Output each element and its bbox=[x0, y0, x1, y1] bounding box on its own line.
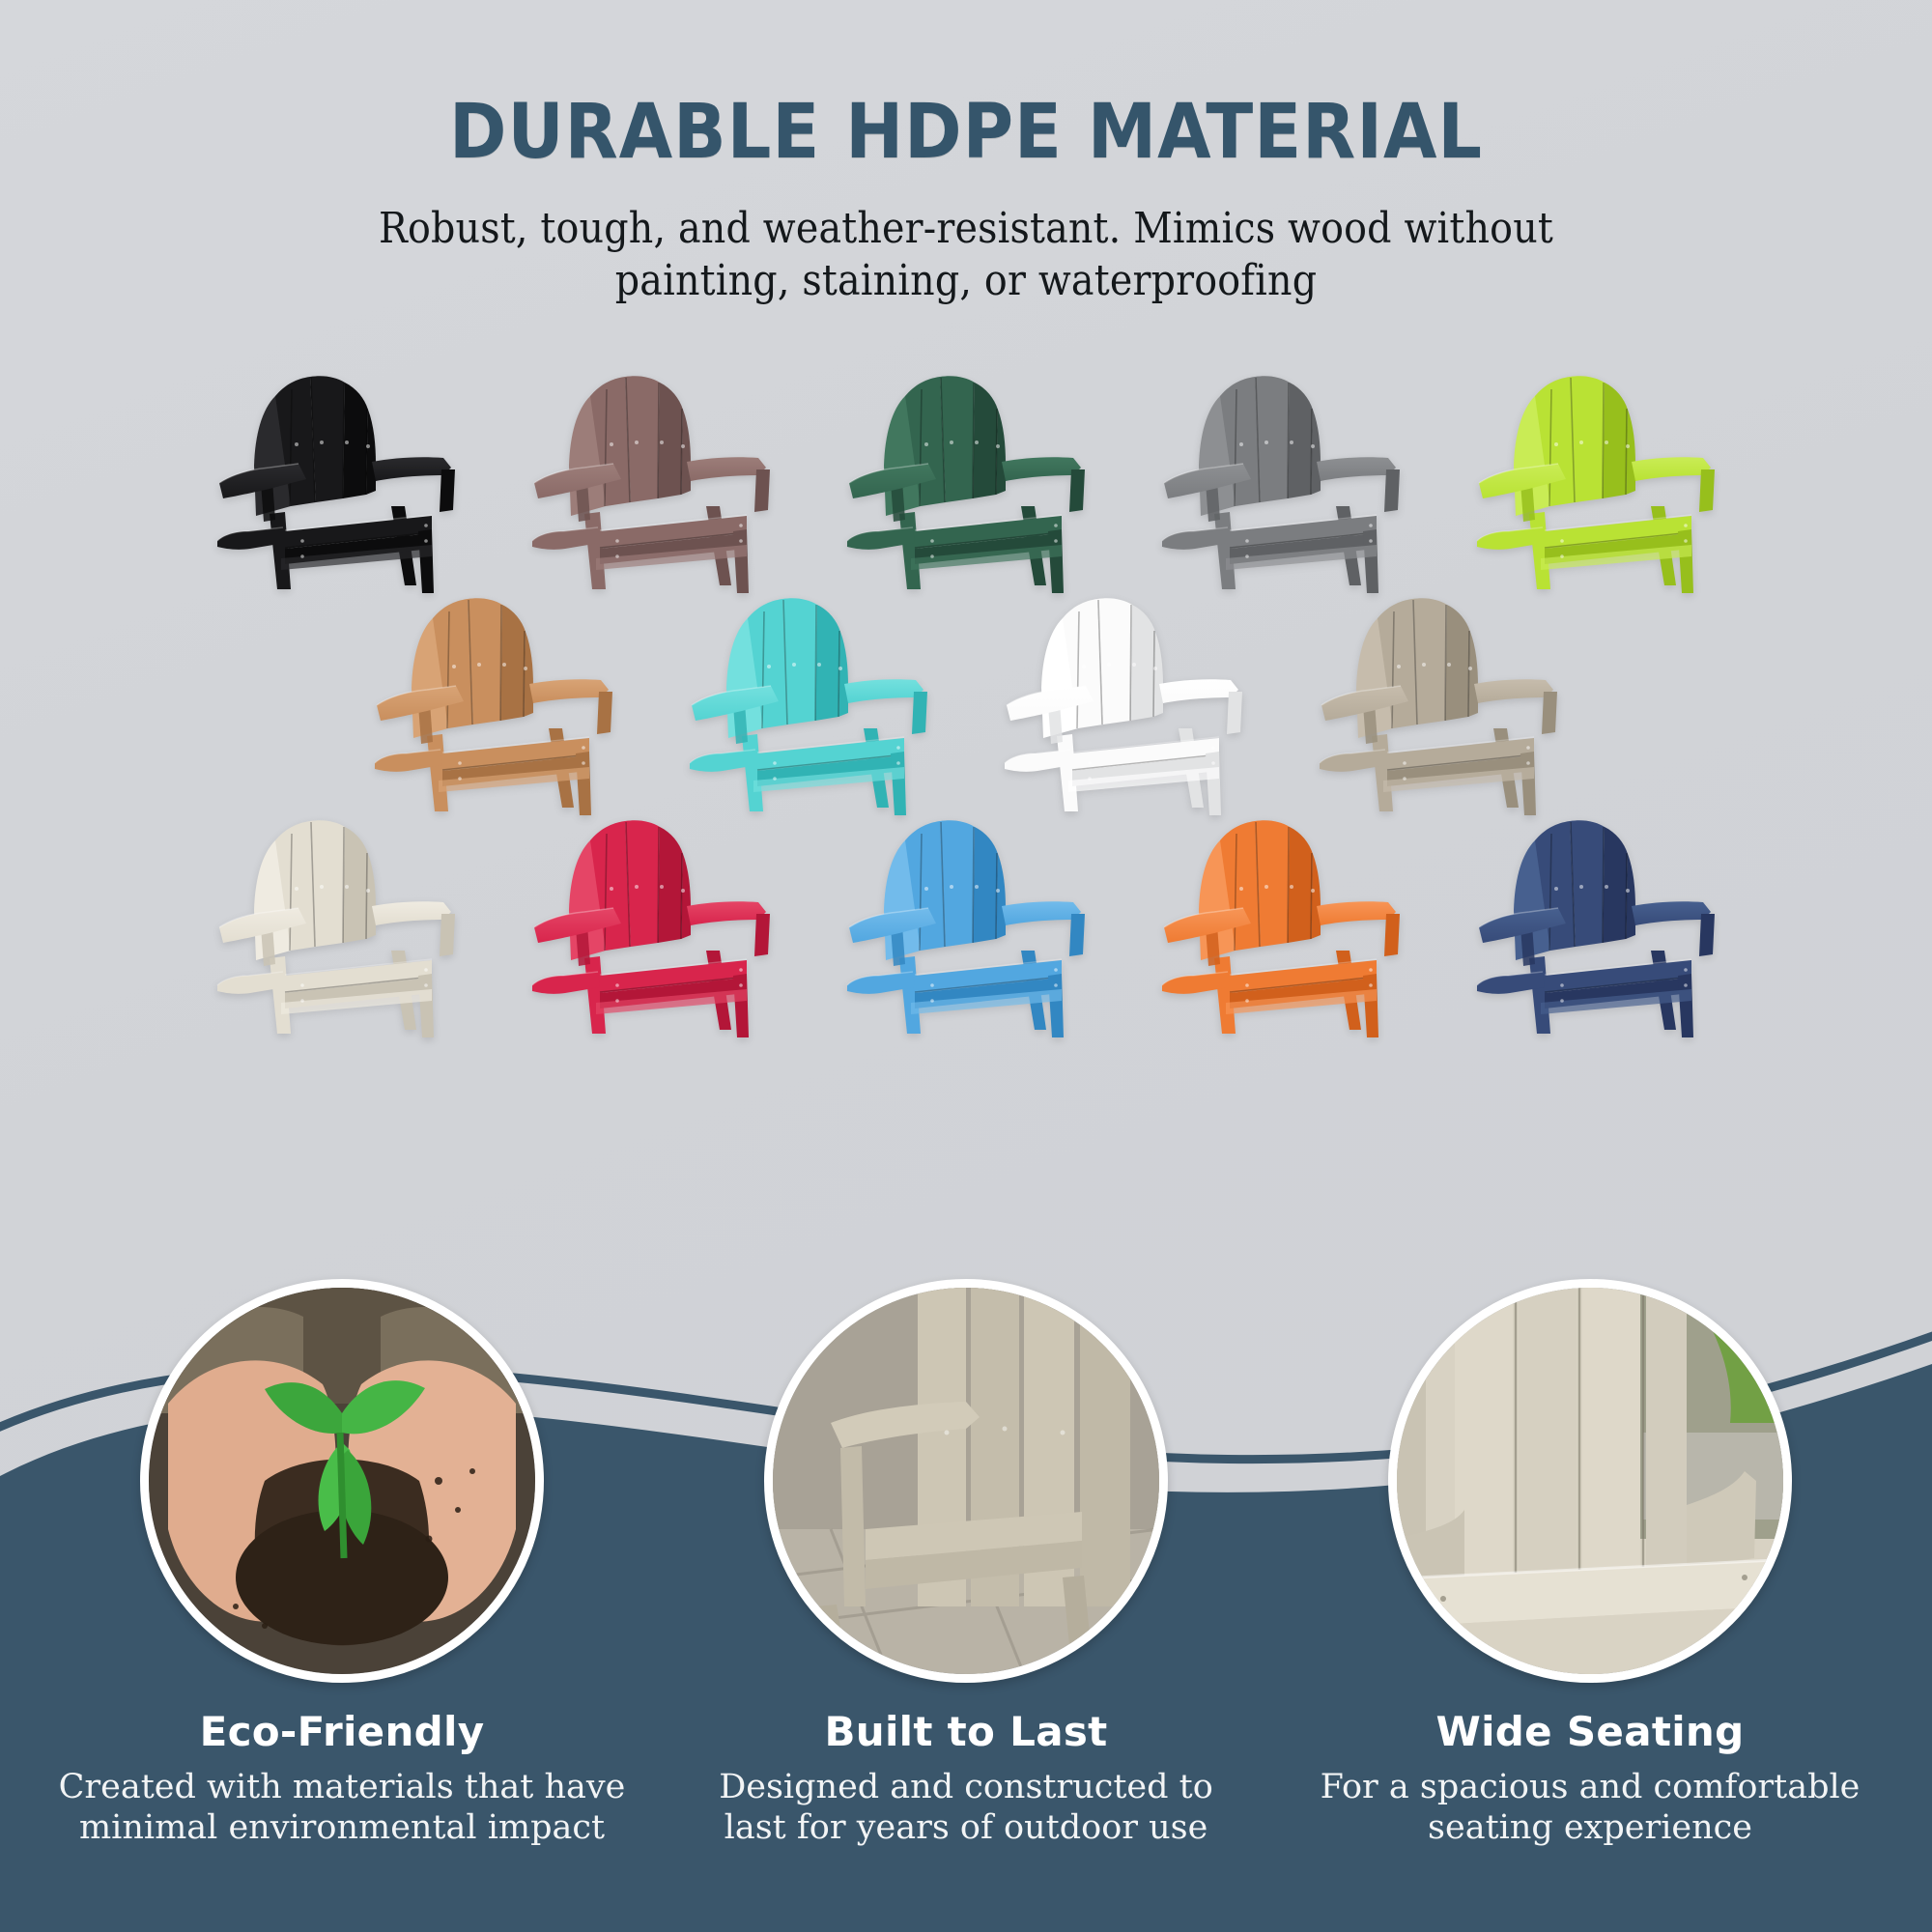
feature-image-eco-friendly bbox=[140, 1279, 544, 1683]
feature-list: Eco-Friendly Created with materials that… bbox=[0, 1198, 1932, 1932]
feature-description-built-to-last: Designed and constructed to last for yea… bbox=[676, 1767, 1256, 1849]
feature-desc-line-1: Created with materials that have bbox=[59, 1768, 626, 1806]
chair-swatch-taupe[interactable] bbox=[1304, 583, 1573, 823]
chair-row-2 bbox=[0, 583, 1932, 823]
page-subtitle: Robust, tough, and weather-resistant. Mi… bbox=[0, 176, 1932, 306]
patio-chair-photo-art bbox=[773, 1288, 1159, 1674]
chair-swatch-turquoise[interactable] bbox=[674, 583, 943, 823]
chair-graphic-navy bbox=[1462, 806, 1730, 1045]
chair-swatch-black[interactable] bbox=[202, 361, 470, 601]
feature-image-built-to-last bbox=[764, 1279, 1168, 1683]
chair-swatch-white[interactable] bbox=[989, 583, 1258, 823]
wide-seat-photo-art bbox=[1397, 1288, 1783, 1674]
feature-eco-friendly: Eco-Friendly Created with materials that… bbox=[52, 1279, 632, 1849]
feature-desc-line-1: For a spacious and comfortable bbox=[1321, 1768, 1861, 1806]
chair-graphic-light-blue bbox=[832, 806, 1100, 1045]
chair-row-1 bbox=[0, 361, 1932, 601]
chair-graphic-gray bbox=[1147, 361, 1415, 601]
chair-swatch-navy[interactable] bbox=[1462, 806, 1730, 1045]
feature-title-built-to-last: Built to Last bbox=[676, 1708, 1256, 1755]
chair-swatch-teak[interactable] bbox=[359, 583, 628, 823]
chair-graphic-white bbox=[989, 583, 1258, 823]
chair-swatch-orange[interactable] bbox=[1147, 806, 1415, 1045]
chair-swatch-gray[interactable] bbox=[1147, 361, 1415, 601]
feature-image-wide-seating bbox=[1388, 1279, 1792, 1683]
chair-swatch-light-blue[interactable] bbox=[832, 806, 1100, 1045]
chair-swatch-brown[interactable] bbox=[517, 361, 785, 601]
chair-graphic-orange bbox=[1147, 806, 1415, 1045]
chair-graphic-red bbox=[517, 806, 785, 1045]
chair-graphic-taupe bbox=[1304, 583, 1573, 823]
feature-desc-line-2: seating experience bbox=[1428, 1808, 1752, 1847]
header: DURABLE HDPE MATERIAL Robust, tough, and… bbox=[0, 0, 1932, 306]
feature-description-wide-seating: For a spacious and comfortable seating e… bbox=[1300, 1767, 1880, 1849]
chair-swatch-dark-green[interactable] bbox=[832, 361, 1100, 601]
seedling-photo-art bbox=[149, 1288, 535, 1674]
feature-wide-seating: Wide Seating For a spacious and comforta… bbox=[1300, 1279, 1880, 1849]
feature-desc-line-2: minimal environmental impact bbox=[79, 1808, 605, 1847]
chair-graphic-turquoise bbox=[674, 583, 943, 823]
page-title: DURABLE HDPE MATERIAL bbox=[0, 0, 1932, 176]
chair-graphic-dark-green bbox=[832, 361, 1100, 601]
feature-description-eco-friendly: Created with materials that have minimal… bbox=[52, 1767, 632, 1849]
feature-desc-line-1: Designed and constructed to bbox=[719, 1768, 1213, 1806]
chair-graphic-ivory bbox=[202, 806, 470, 1045]
infographic-page: DURABLE HDPE MATERIAL Robust, tough, and… bbox=[0, 0, 1932, 1932]
chair-swatch-ivory[interactable] bbox=[202, 806, 470, 1045]
feature-title-wide-seating: Wide Seating bbox=[1300, 1708, 1880, 1755]
feature-title-eco-friendly: Eco-Friendly bbox=[52, 1708, 632, 1755]
chair-graphic-lime-green bbox=[1462, 361, 1730, 601]
subtitle-line-1: Robust, tough, and weather-resistant. Mi… bbox=[379, 204, 1553, 253]
chair-swatch-lime-green[interactable] bbox=[1462, 361, 1730, 601]
chair-graphic-black bbox=[202, 361, 470, 601]
feature-desc-line-2: last for years of outdoor use bbox=[724, 1808, 1208, 1847]
chair-color-grid bbox=[0, 361, 1932, 1045]
chair-row-3 bbox=[0, 806, 1932, 1045]
chair-graphic-brown bbox=[517, 361, 785, 601]
chair-swatch-red[interactable] bbox=[517, 806, 785, 1045]
subtitle-line-2: painting, staining, or waterproofing bbox=[615, 256, 1317, 305]
chair-graphic-teak bbox=[359, 583, 628, 823]
feature-built-to-last: Built to Last Designed and constructed t… bbox=[676, 1279, 1256, 1849]
